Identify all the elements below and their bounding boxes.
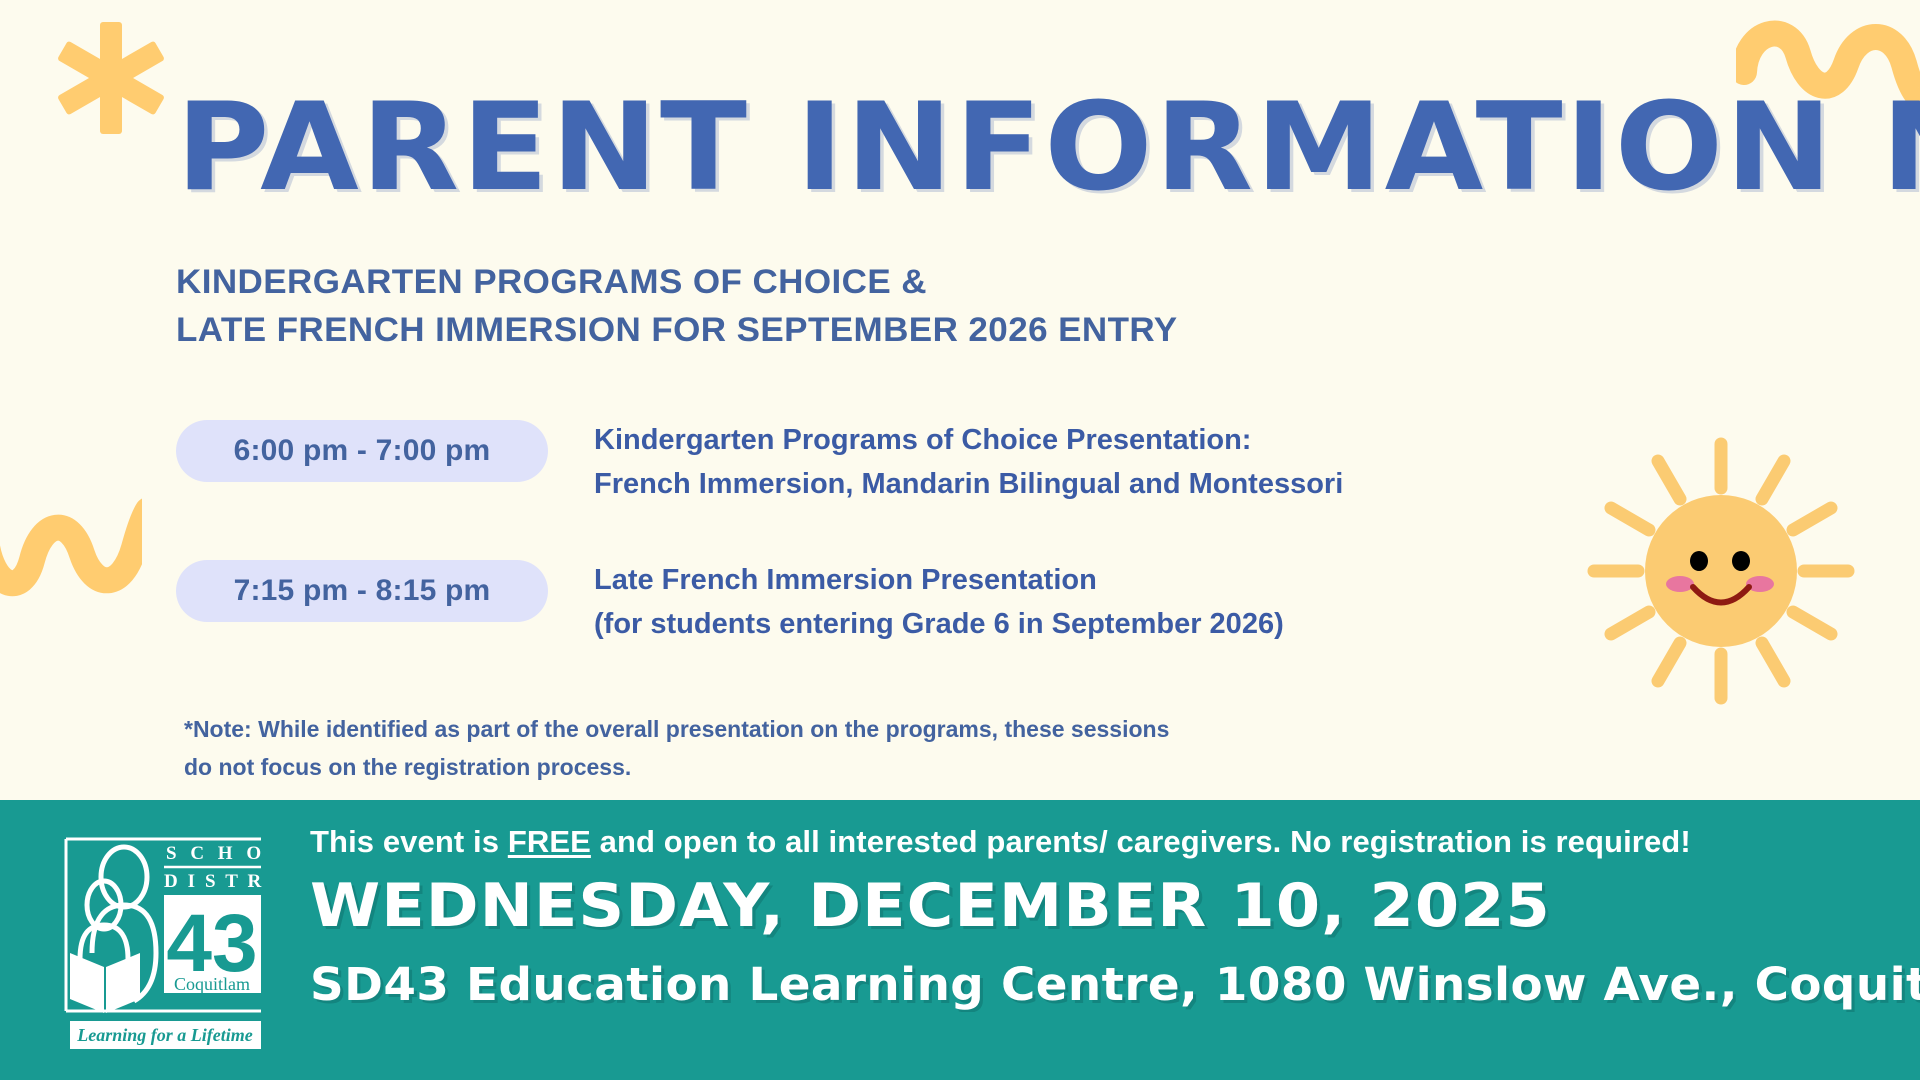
page-title: PARENT INFORMATION NIGHT <box>176 88 1920 209</box>
note-text: *Note: While identified as part of the o… <box>184 710 1169 786</box>
session-description: Kindergarten Programs of Choice Presenta… <box>594 418 1343 506</box>
starburst-icon <box>36 8 186 148</box>
event-date: WEDNESDAY, DECEMBER 10, 2025 <box>310 876 1920 936</box>
logo-district-text: D I S T R I C T <box>164 871 271 892</box>
session-description-line-2: (for students entering Grade 6 in Septem… <box>594 602 1284 646</box>
session-description-line-1: Kindergarten Programs of Choice Presenta… <box>594 418 1343 462</box>
session-description-line-1: Late French Immersion Presentation <box>594 558 1284 602</box>
schedule-row: 6:00 pm - 7:00 pm Kindergarten Programs … <box>176 418 1576 506</box>
note-line-2: do not focus on the registration process… <box>184 748 1169 786</box>
subtitle-line-2: LATE FRENCH IMMERSION FOR SEPTEMBER 2026… <box>176 306 1178 354</box>
event-venue: SD43 Education Learning Centre, 1080 Win… <box>310 962 1920 1007</box>
note-line-1: *Note: While identified as part of the o… <box>184 710 1169 748</box>
poster-main-section: PARENT INFORMATION NIGHT KINDERGARTEN PR… <box>0 0 1920 800</box>
logo-school-text: S C H O O L <box>166 843 271 864</box>
event-details-banner: S C H O O L D I S T R I C T 43 Coquitlam… <box>0 800 1920 1080</box>
free-line-prefix: This event is <box>310 824 508 859</box>
session-description-line-2: French Immersion, Mandarin Bilingual and… <box>594 462 1343 506</box>
time-badge: 6:00 pm - 7:00 pm <box>176 420 548 482</box>
subtitle-line-1: KINDERGARTEN PROGRAMS OF CHOICE & <box>176 258 1178 306</box>
schedule-list: 6:00 pm - 7:00 pm Kindergarten Programs … <box>176 418 1576 698</box>
sd43-logo: S C H O O L D I S T R I C T 43 Coquitlam… <box>56 825 271 1055</box>
poster-subtitle: KINDERGARTEN PROGRAMS OF CHOICE & LATE F… <box>176 258 1178 354</box>
free-event-line: This event is FREE and open to all inter… <box>310 824 1910 860</box>
logo-city-text: Coquitlam <box>174 974 250 994</box>
squiggle-decoration-left <box>0 478 142 613</box>
time-badge: 7:15 pm - 8:15 pm <box>176 560 548 622</box>
banner-text-block: This event is FREE and open to all inter… <box>310 824 1910 1007</box>
schedule-row: 7:15 pm - 8:15 pm Late French Immersion … <box>176 558 1576 646</box>
logo-tagline-text: Learning for a Lifetime <box>76 1025 252 1045</box>
sun-illustration-icon <box>1580 430 1862 712</box>
free-line-suffix: and open to all interested parents/ care… <box>591 824 1691 859</box>
session-description: Late French Immersion Presentation (for … <box>594 558 1284 646</box>
free-emphasis: FREE <box>508 824 591 859</box>
